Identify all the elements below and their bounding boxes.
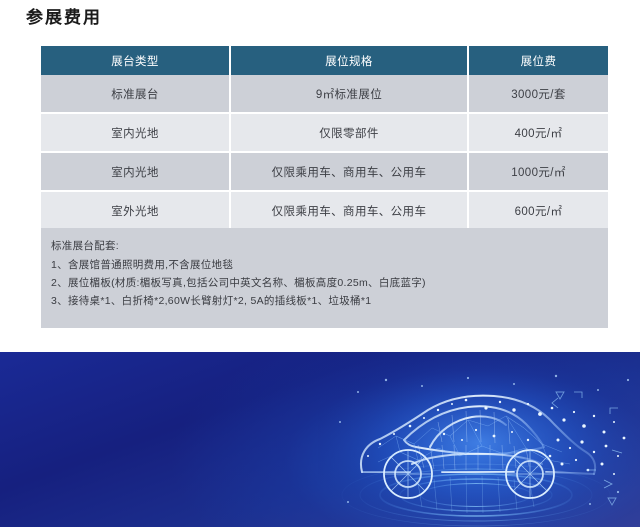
cell-booth-price: 1000元/㎡ — [468, 152, 608, 191]
fee-table: 展台类型 展位规格 展位费 标准展台 9㎡标准展位 3000元/套 室内光地 仅… — [41, 46, 608, 231]
cell-booth-type: 标准展台 — [41, 75, 230, 113]
wireframe-car-icon — [318, 352, 640, 527]
fee-table-container: 展台类型 展位规格 展位费 标准展台 9㎡标准展位 3000元/套 室内光地 仅… — [41, 46, 608, 231]
standard-booth-notes: 标准展台配套: 1、含展馆普通照明费用,不含展位地毯 2、展位楣板(材质:楣板写… — [41, 228, 608, 328]
closing-banner: 期待合作 — [0, 352, 640, 527]
cell-booth-spec: 仅限乘用车、商用车、公用车 — [230, 152, 468, 191]
cell-booth-spec: 仅限零部件 — [230, 113, 468, 152]
cell-booth-price: 3000元/套 — [468, 75, 608, 113]
notes-item-3: 3、接待桌*1、白折椅*2,60W长臂射灯*2, 5A的插线板*1、垃圾桶*1 — [51, 292, 608, 310]
cell-booth-type: 室外光地 — [41, 191, 230, 230]
column-header-booth-price: 展位费 — [468, 46, 608, 75]
table-header-row: 展台类型 展位规格 展位费 — [41, 46, 608, 75]
column-header-booth-spec: 展位规格 — [230, 46, 468, 75]
table-row: 标准展台 9㎡标准展位 3000元/套 — [41, 75, 608, 113]
table-row: 室外光地 仅限乘用车、商用车、公用车 600元/㎡ — [41, 191, 608, 230]
column-header-booth-type: 展台类型 — [41, 46, 230, 75]
fee-table-body: 标准展台 9㎡标准展位 3000元/套 室内光地 仅限零部件 400元/㎡ 室内… — [41, 75, 608, 230]
cell-booth-price: 600元/㎡ — [468, 191, 608, 230]
cell-booth-spec: 9㎡标准展位 — [230, 75, 468, 113]
table-row: 室内光地 仅限零部件 400元/㎡ — [41, 113, 608, 152]
notes-title: 标准展台配套: — [51, 237, 608, 255]
table-row: 室内光地 仅限乘用车、商用车、公用车 1000元/㎡ — [41, 152, 608, 191]
cell-booth-price: 400元/㎡ — [468, 113, 608, 152]
cell-booth-type: 室内光地 — [41, 113, 230, 152]
cell-booth-spec: 仅限乘用车、商用车、公用车 — [230, 191, 468, 230]
fee-table-header: 展台类型 展位规格 展位费 — [41, 46, 608, 75]
notes-item-1: 1、含展馆普通照明费用,不含展位地毯 — [51, 256, 608, 274]
notes-item-2: 2、展位楣板(材质:楣板写真,包括公司中英文名称、楣板高度0.25m、白底蓝字) — [51, 274, 608, 292]
cell-booth-type: 室内光地 — [41, 152, 230, 191]
page-title: 参展费用 — [26, 6, 102, 30]
